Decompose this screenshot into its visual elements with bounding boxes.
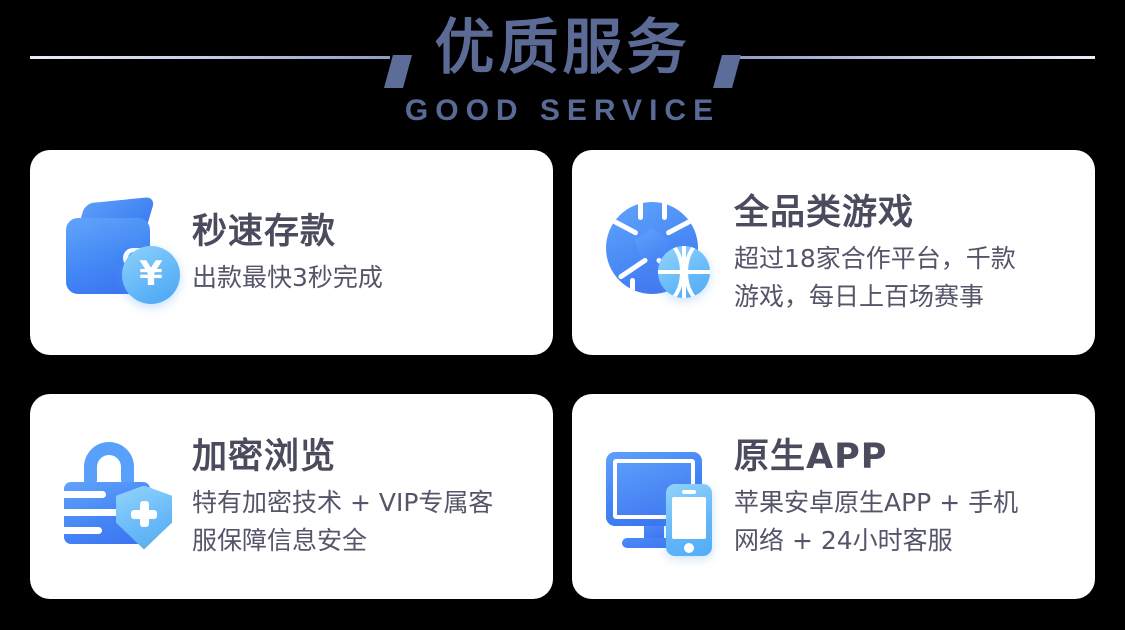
- lock-slot: [64, 509, 118, 516]
- card-title: 全品类游戏: [734, 190, 1073, 236]
- soccer-seam: [665, 212, 698, 235]
- card-title: 原生APP: [734, 434, 1073, 480]
- feature-card-games[interactable]: 全品类游戏 超过18家合作平台，千款 游戏，每日上百场赛事: [572, 150, 1095, 355]
- lock-slot: [64, 491, 106, 498]
- page-title: 优质服务 GOOD SERVICE: [0, 8, 1125, 130]
- card-description-line: 特有加密技术 + VIP专属客: [192, 484, 531, 522]
- basketball-seam: [684, 246, 710, 298]
- card-description-line: 超过18家合作平台，千款: [734, 240, 1073, 278]
- card-description-line: 苹果安卓原生APP + 手机: [734, 484, 1073, 522]
- feature-card-encryption[interactable]: 加密浏览 特有加密技术 + VIP专属客 服保障信息安全: [30, 394, 553, 599]
- phone-speaker: [682, 490, 696, 494]
- card-title: 秒速存款: [192, 209, 531, 255]
- card-description-line: 游戏，每日上百场赛事: [734, 278, 1073, 316]
- card-description-line: 网络 + 24小时客服: [734, 522, 1073, 560]
- feature-card-grid: ¥ 秒速存款 出款最快3秒完成: [30, 150, 1095, 599]
- feature-card-native-app[interactable]: 原生APP 苹果安卓原生APP + 手机 网络 + 24小时客服: [572, 394, 1095, 599]
- card-text-native-app: 原生APP 苹果安卓原生APP + 手机 网络 + 24小时客服: [734, 434, 1073, 560]
- soccer-seam: [638, 202, 643, 220]
- yen-coin-icon: ¥: [122, 246, 180, 304]
- card-title: 加密浏览: [192, 434, 531, 480]
- title-english: GOOD SERVICE: [0, 92, 1125, 130]
- card-description: 超过18家合作平台，千款 游戏，每日上百场赛事: [734, 240, 1073, 316]
- feature-card-deposit[interactable]: ¥ 秒速存款 出款最快3秒完成: [30, 150, 553, 355]
- card-description: 苹果安卓原生APP + 手机 网络 + 24小时客服: [734, 484, 1073, 560]
- card-description: 特有加密技术 + VIP专属客 服保障信息安全: [192, 484, 531, 560]
- sports-balls-icon: [602, 194, 720, 312]
- card-text-games: 全品类游戏 超过18家合作平台，千款 游戏，每日上百场赛事: [734, 190, 1073, 316]
- wallet-icon: ¥: [60, 194, 178, 312]
- plus-icon: [131, 501, 157, 527]
- card-description-line: 出款最快3秒完成: [192, 259, 531, 297]
- title-chinese: 优质服务: [0, 8, 1125, 88]
- soccer-seam: [630, 278, 635, 294]
- basketball-icon: [658, 246, 710, 298]
- card-description: 出款最快3秒完成: [192, 259, 531, 297]
- lock-slot: [64, 527, 102, 534]
- smartphone-icon: [666, 484, 712, 556]
- basketball-seam: [658, 246, 684, 298]
- yen-symbol: ¥: [139, 257, 163, 291]
- soccer-seam: [662, 202, 667, 220]
- monitor-phone-icon: [602, 438, 720, 556]
- soccer-seam: [618, 256, 649, 279]
- card-text-deposit: 秒速存款 出款最快3秒完成: [192, 209, 531, 297]
- card-text-encryption: 加密浏览 特有加密技术 + VIP专属客 服保障信息安全: [192, 434, 531, 560]
- phone-home-button: [684, 543, 694, 553]
- card-description-line: 服保障信息安全: [192, 522, 531, 560]
- lock-shield-icon: [60, 438, 178, 556]
- soccer-seam: [606, 212, 639, 235]
- promo-banner: 优质服务 GOOD SERVICE ¥ 秒速存款 出款最快3秒完成: [0, 0, 1125, 630]
- phone-screen: [672, 497, 706, 539]
- header: 优质服务 GOOD SERVICE: [0, 0, 1125, 148]
